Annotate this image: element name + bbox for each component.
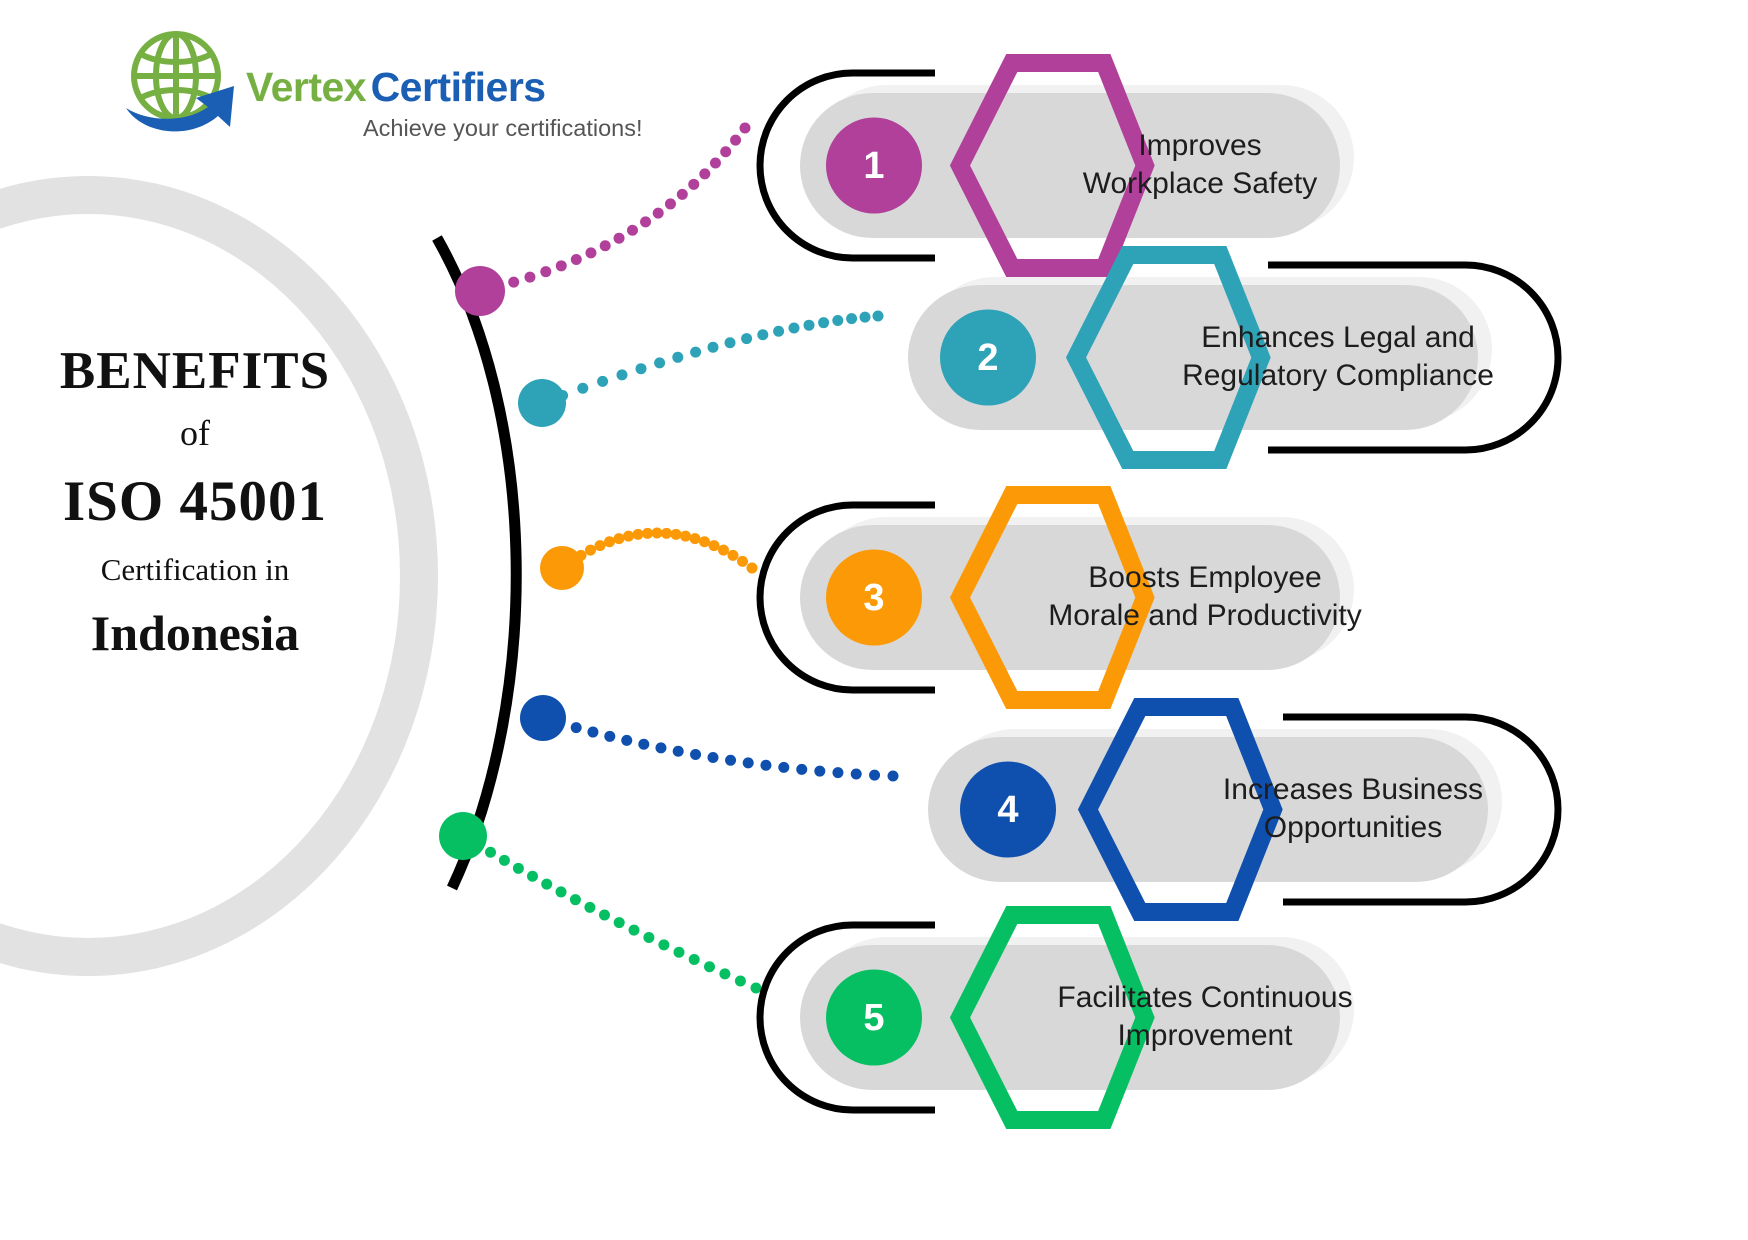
- connector-dot: [673, 746, 684, 757]
- connector-dot: [725, 337, 736, 348]
- connector-dot: [689, 954, 700, 965]
- connector-dot: [661, 528, 672, 539]
- connector-dot: [614, 533, 625, 544]
- connector-dot: [513, 863, 524, 874]
- connector-dot: [672, 352, 683, 363]
- spine-node-4[interactable]: [520, 695, 566, 741]
- connector-dot: [860, 312, 871, 323]
- connector-dot: [585, 247, 596, 258]
- connector-dot: [735, 975, 746, 986]
- connector-dot: [718, 545, 729, 556]
- connector-dot: [633, 529, 644, 540]
- connector-dot: [708, 752, 719, 763]
- connector-dot: [577, 383, 588, 394]
- connector-dot: [604, 536, 615, 547]
- connector-dot: [690, 347, 701, 358]
- connector-dot: [699, 536, 710, 547]
- connector-dot: [851, 768, 862, 779]
- connector-dot: [617, 369, 628, 380]
- benefit-text: Boosts Employee Morale and Productivity: [1035, 559, 1375, 635]
- connector-dot: [709, 540, 720, 551]
- connector-dot: [814, 766, 825, 777]
- connector-dot: [747, 563, 758, 574]
- connector-dot: [789, 323, 800, 334]
- connector-dot: [720, 146, 731, 157]
- connector-dot: [638, 739, 649, 750]
- connector-dot: [741, 333, 752, 344]
- connector-dot: [832, 767, 843, 778]
- connector-dot: [677, 189, 688, 200]
- connector-dot: [690, 749, 701, 760]
- connector-dot: [653, 208, 664, 219]
- connector-dot: [690, 533, 701, 544]
- connector-dot: [623, 531, 634, 542]
- benefit-item-5[interactable]: 5Facilitates Continuous Improvement: [760, 900, 1510, 1135]
- connector-dot: [757, 329, 768, 340]
- benefit-item-4[interactable]: 4Increases Business Opportunities: [898, 692, 1683, 927]
- connector-dot: [730, 135, 741, 146]
- connector-dot: [540, 266, 551, 277]
- connector-dot: [585, 545, 596, 556]
- connector-dot: [728, 550, 739, 561]
- connector-dot: [621, 735, 632, 746]
- connector-dot: [846, 313, 857, 324]
- connector-dot: [600, 240, 611, 251]
- connector-dot: [524, 272, 535, 283]
- connector-dot: [570, 894, 581, 905]
- connector-dot: [541, 879, 552, 890]
- connector-dot: [796, 764, 807, 775]
- benefit-number-label: 4: [978, 791, 1038, 829]
- benefit-number-label: 5: [844, 999, 904, 1037]
- connector-dot: [614, 917, 625, 928]
- connector-dot: [655, 742, 666, 753]
- connector-dot: [671, 529, 682, 540]
- connector-dot: [778, 762, 789, 773]
- connector-dot: [599, 910, 610, 921]
- connector-dot: [584, 902, 595, 913]
- benefit-number-label: 2: [958, 339, 1018, 377]
- connector-dot: [643, 932, 654, 943]
- benefit-number-label: 3: [844, 579, 904, 617]
- connector-dot: [708, 342, 719, 353]
- connector-dot: [556, 886, 567, 897]
- connector-dot: [888, 771, 899, 782]
- connector-dot: [704, 961, 715, 972]
- connector-dot: [773, 326, 784, 337]
- spine-node-1[interactable]: [455, 266, 505, 316]
- connector-dot: [556, 260, 567, 271]
- connector-dot: [832, 315, 843, 326]
- connector-dot: [627, 225, 638, 236]
- connector-dot: [725, 755, 736, 766]
- connector-dot: [737, 556, 748, 567]
- connector-dot: [571, 722, 582, 733]
- benefit-text: Increases Business Opportunities: [1163, 771, 1543, 847]
- connector-dot: [719, 968, 730, 979]
- connector-dot: [869, 770, 880, 781]
- connector-dot: [499, 855, 510, 866]
- connector-dot: [508, 277, 519, 288]
- connector-dot: [587, 727, 598, 738]
- connector-dot: [699, 168, 710, 179]
- spine-node-5[interactable]: [439, 812, 487, 860]
- connector-dot: [710, 158, 721, 169]
- benefit-number-label: 1: [844, 147, 904, 185]
- connector-dot: [640, 216, 651, 227]
- connector-dot: [654, 357, 665, 368]
- connector-dot: [597, 376, 608, 387]
- connector-dot: [595, 540, 606, 551]
- connector-dot: [652, 528, 663, 539]
- spine-node-2[interactable]: [518, 379, 566, 427]
- benefit-item-3[interactable]: 3Boosts Employee Morale and Productivity: [760, 480, 1510, 715]
- benefit-text: Enhances Legal and Regulatory Compliance: [1143, 319, 1533, 395]
- connector-dot: [688, 179, 699, 190]
- connector-dot: [636, 363, 647, 374]
- connector-dot: [614, 233, 625, 244]
- benefit-text: Facilitates Continuous Improvement: [1035, 979, 1375, 1055]
- benefit-text: Improves Workplace Safety: [1035, 127, 1365, 203]
- spine-node-3[interactable]: [540, 546, 584, 590]
- connector-dot: [658, 939, 669, 950]
- connector-dot: [804, 320, 815, 331]
- connector-dot: [760, 760, 771, 771]
- connector-dot: [818, 317, 829, 328]
- connector-dot: [629, 925, 640, 936]
- spine-arc: [437, 238, 516, 888]
- connector-dot: [571, 254, 582, 265]
- connector-dot: [680, 531, 691, 542]
- connector-dot: [665, 198, 676, 209]
- connector-dot: [674, 947, 685, 958]
- connector-dot: [642, 528, 653, 539]
- connector-dot: [740, 123, 751, 134]
- connector-dot: [485, 847, 496, 858]
- connector-dot: [604, 731, 615, 742]
- connector-dot: [743, 757, 754, 768]
- benefit-item-2[interactable]: 2Enhances Legal and Regulatory Complianc…: [878, 240, 1683, 475]
- connector-dot: [527, 871, 538, 882]
